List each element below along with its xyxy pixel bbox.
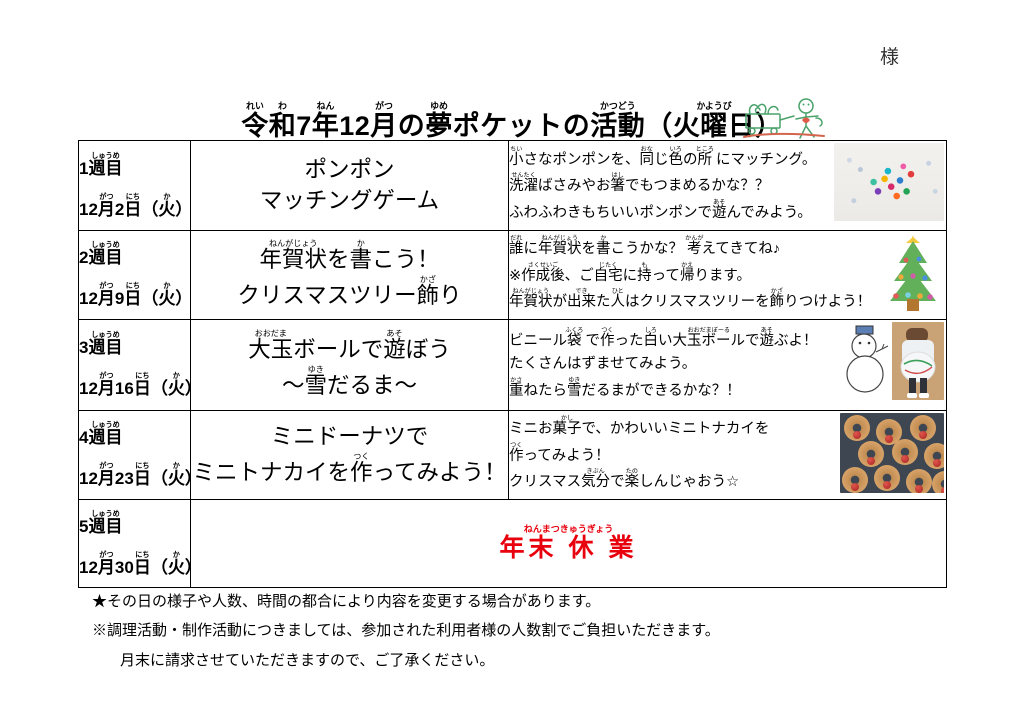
week-cell-3: 3週目しゅうめ 12月がつ16日にち（火か） [79,320,191,411]
table-row: 1週目しゅうめ 12月がつ2日にち（火か） ポンポン マッチングゲーム 小ちいさ… [79,141,947,231]
reindeer-donut [844,415,870,441]
week-cell-2: 2週目しゅうめ 12月がつ9日にち（火か） [79,231,191,320]
reindeer-donut [906,469,932,493]
addressee-suffix: 様 [880,42,940,69]
reindeer-donut [910,415,936,441]
week-number-label: 1週目しゅうめ [79,152,190,179]
activity-line: マッチングゲーム [191,186,508,216]
week-cell-1: 1週目しゅうめ 12月がつ2日にち（火か） [79,141,191,231]
closed-notice: 年末 休 業ねんまつきゅうぎょう [191,524,946,563]
reindeer-donut [892,439,918,465]
description-cell-1: 小ちいさなポンポンを、同おなじ色いろの所ところ にマッチング。洗濯せんたくばさみ… [509,141,947,231]
description-cell-3: ビニール袋ふくろ で作つくった白しろい大玉ボールおおだまぼーるで遊あそぶよ！たく… [509,320,947,411]
document-page: 様 令れい和わ7年ねん12月がつの夢ゆめポケットの活動かつどう（火曜日かようび） [0,0,1024,724]
week-number-label: 4週目しゅうめ [79,421,190,448]
footer-notes: ★その日の様子や人数、時間の都合により内容を変更する場合があります。 ※調理活動… [92,588,892,676]
activity-text: ミニドーナツでミニトナカイを作つくってみよう！ [191,422,508,489]
week-cell-4: 4週目しゅうめ 12月がつ23日にち（火か） [79,411,191,500]
week-number-label: 2週目しゅうめ [79,241,190,268]
child-with-big-ball-photo [892,322,944,400]
activity-schedule-table: 1週目しゅうめ 12月がつ2日にち（火か） ポンポン マッチングゲーム 小ちいさ… [78,140,947,588]
closed-notice-cell: 年末 休 業ねんまつきゅうぎょう [191,500,947,588]
description-cell-2: 誰だれに年賀状ねんがじょうを書かこうかな？ 考かんがえてきてね♪※作成後さくせい… [509,231,947,320]
week-date-label: 12月がつ23日にち（火か） [79,462,190,489]
activity-line: ポンポン [191,155,508,185]
week-number-label: 3週目しゅうめ [79,331,190,358]
child-pulling-cart-with-plants-icon [728,92,840,142]
activity-cell-4: ミニドーナツでミニトナカイを作つくってみよう！ [191,411,509,500]
table-row: 3週目しゅうめ 12月がつ16日にち（火か） 大玉おおだまボールで遊あそぼう〜雪… [79,320,947,411]
note-line: 月末に請求させていただきますので、ご了承ください。 [92,647,892,676]
description-cell-4: ミニお菓子かしで、かわいいミニトナカイを作つくってみよう！クリスマス気分きぶんで… [509,411,947,500]
snowman-illustration [844,322,890,400]
page-title-area: 令れい和わ7年ねん12月がつの夢ゆめポケットの活動かつどう（火曜日かようび） [0,96,1024,140]
christmas-tree-illustration [882,233,944,317]
reindeer-donut [932,471,944,493]
note-line: ★その日の様子や人数、時間の都合により内容を変更する場合があります。 [92,588,892,617]
table-row: 4週目しゅうめ 12月がつ23日にち（火か） ミニドーナツでミニトナカイを作つく… [79,411,947,500]
pompom-photo [834,143,944,228]
reindeer-donut [874,465,900,491]
activity-cell-2: 年賀状ねんがじょうを書かこう！クリスマスツリー飾かざり [191,231,509,320]
week-cell-5: 5週目しゅうめ 12月がつ30日にち（火か） [79,500,191,588]
reindeer-donut [858,441,884,467]
activity-text: 大玉おおだまボールで遊あそぼう〜雪ゆきだるま〜 [191,329,508,402]
snowman-and-ball-photo [844,322,944,408]
activity-cell-3: 大玉おおだまボールで遊あそぼう〜雪ゆきだるま〜 [191,320,509,411]
reindeer-donut-photo [840,413,944,497]
activity-text: 年賀状ねんがじょうを書かこう！クリスマスツリー飾かざり [191,239,508,312]
reindeer-donut [842,467,868,493]
page-title: 令れい和わ7年ねん12月がつの夢ゆめポケットの活動かつどう（火曜日かようび） [241,101,783,140]
week-number-label: 5週目しゅうめ [79,510,190,537]
reindeer-donut [924,443,944,469]
week-date-label: 12月がつ16日にち（火か） [79,372,190,399]
note-line: ※調理活動・制作活動につきましては、参加された利用者様の人数割でご負担いただきま… [92,617,892,646]
week-date-label: 12月がつ9日にち（火か） [79,282,190,309]
week-date-label: 12月がつ30日にち（火か） [79,551,190,578]
activity-cell-1: ポンポン マッチングゲーム [191,141,509,231]
table-row: 2週目しゅうめ 12月がつ9日にち（火か） 年賀状ねんがじょうを書かこう！クリス… [79,231,947,320]
table-row: 5週目しゅうめ 12月がつ30日にち（火か） 年末 休 業ねんまつきゅうぎょう [79,500,947,588]
week-date-label: 12月がつ2日にち（火か） [79,193,190,220]
description-text: 誰だれに年賀状ねんがじょうを書かこうかな？ 考かんがえてきてね♪※作成後さくせい… [509,235,946,314]
